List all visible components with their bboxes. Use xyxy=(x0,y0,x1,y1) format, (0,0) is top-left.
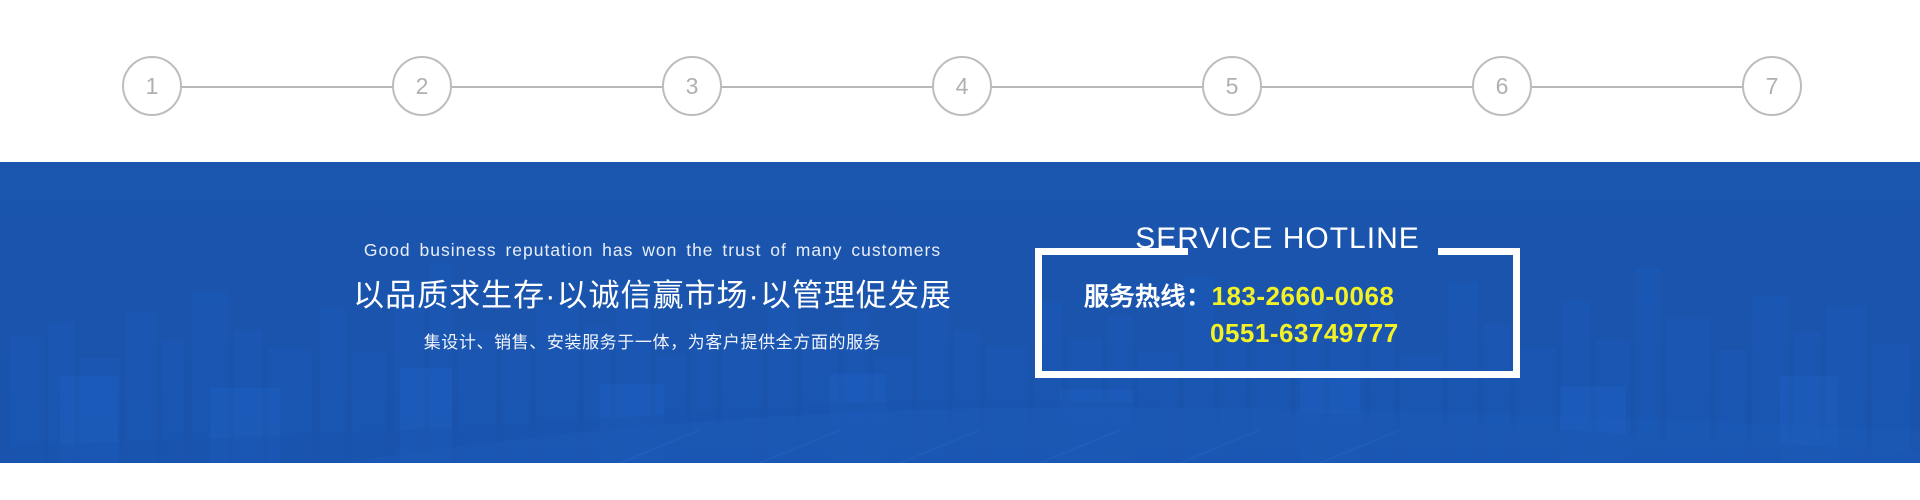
hotline-label: 服务热线： xyxy=(1084,283,1212,312)
step-node-3[interactable]: 3 xyxy=(662,56,722,116)
step-node-6[interactable]: 6 xyxy=(1472,56,1532,116)
slogan-block: Good business reputation has won the tru… xyxy=(290,240,1015,354)
step-node-1[interactable]: 1 xyxy=(122,56,182,116)
step-label: 6 xyxy=(1496,75,1509,98)
frame-border-bottom xyxy=(1035,371,1520,378)
hotline-phone-secondary[interactable]: 0551-63749777 xyxy=(1210,319,1399,349)
slogan-chinese-headline: 以品质求生存·以诚信赢市场·以管理促发展 xyxy=(290,277,1015,316)
slogan-english-line: Good business reputation has won the tru… xyxy=(290,240,1015,261)
step-label: 5 xyxy=(1226,75,1239,98)
slogan-chinese-subline: 集设计、销售、安装服务于一体，为客户提供全方面的服务 xyxy=(290,332,1015,354)
step-label: 2 xyxy=(416,75,429,98)
hotline-row-primary: 服务热线： 183-2660-0068 xyxy=(1035,282,1520,312)
step-node-4[interactable]: 4 xyxy=(932,56,992,116)
step-label: 4 xyxy=(956,75,969,98)
step-node-5[interactable]: 5 xyxy=(1202,56,1262,116)
page-root: 1 2 3 4 5 6 7 xyxy=(0,0,1920,500)
service-hotline-title: SERVICE HOTLINE xyxy=(1035,224,1520,254)
step-progress-bar: 1 2 3 4 5 6 7 xyxy=(0,0,1920,162)
step-label: 7 xyxy=(1766,75,1779,98)
step-node-7[interactable]: 7 xyxy=(1742,56,1802,116)
service-hotline-panel: SERVICE HOTLINE 服务热线： 183-2660-0068 0551… xyxy=(1035,248,1520,378)
hotline-phone-primary[interactable]: 183-2660-0068 xyxy=(1212,282,1395,312)
promo-banner: Good business reputation has won the tru… xyxy=(0,162,1920,463)
step-label: 3 xyxy=(686,75,699,98)
hotline-number-list: 服务热线： 183-2660-0068 0551-63749777 xyxy=(1035,282,1520,349)
step-label: 1 xyxy=(146,75,159,98)
hotline-row-secondary: 0551-63749777 xyxy=(1035,319,1520,349)
step-node-2[interactable]: 2 xyxy=(392,56,452,116)
